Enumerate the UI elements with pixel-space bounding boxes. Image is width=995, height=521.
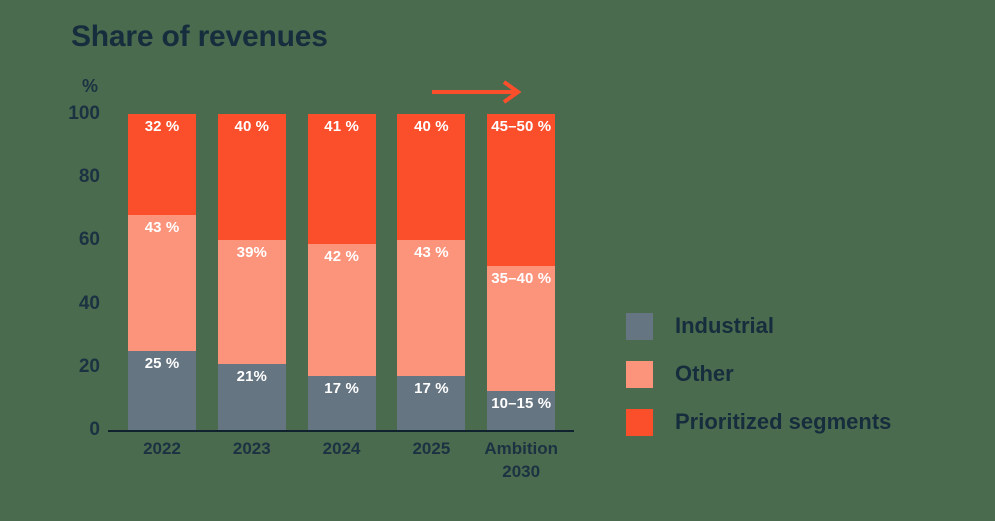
segment-value-label: 43 % [128,219,196,236]
bar-group[interactable]: 10–15 %35–40 %45–50 %Ambition 2030 [487,0,555,430]
segment-value-label: 21% [218,368,286,385]
bar-group[interactable]: 17 %43 %40 %2025 [397,0,465,430]
bar-segment-other[interactable]: 43 % [128,215,196,351]
bar-group[interactable]: 25 %43 %32 %2022 [128,0,196,430]
segment-value-label: 45–50 % [487,118,555,135]
bar-segment-industrial[interactable]: 10–15 % [487,391,555,431]
segment-value-label: 25 % [128,355,196,372]
segment-value-label: 39% [218,244,286,261]
x-axis-category-label: 2023 [204,438,300,461]
legend-color-swatch [626,313,653,340]
legend-item-prioritized[interactable]: Prioritized segments [626,398,956,446]
bar-segment-prioritized-segments[interactable]: 32 % [128,114,196,215]
x-axis-category-label: Ambition 2030 [473,438,569,484]
segment-value-label: 40 % [397,118,465,135]
segment-value-label: 40 % [218,118,286,135]
chart-root: Share of revenues % 100806040200 25 %43 … [0,0,995,521]
segment-value-label: 42 % [308,248,376,265]
bar-stack: 25 %43 %32 % [128,114,196,430]
segment-value-label: 32 % [128,118,196,135]
bar-segment-industrial[interactable]: 17 % [308,376,376,430]
bar-group[interactable]: 17 %42 %41 %2024 [308,0,376,430]
bar-group[interactable]: 21%39%40 %2023 [218,0,286,430]
x-axis-category-label: 2022 [114,438,210,461]
bar-segment-other[interactable]: 39% [218,240,286,363]
bar-series-container: 25 %43 %32 %202221%39%40 %202317 %42 %41… [0,0,600,521]
segment-value-label: 17 % [397,380,465,397]
segment-value-label: 41 % [308,118,376,135]
bar-stack: 21%39%40 % [218,114,286,430]
bar-stack: 10–15 %35–40 %45–50 % [487,114,555,430]
legend-item-industrial[interactable]: Industrial [626,302,956,350]
bar-stack: 17 %42 %41 % [308,114,376,430]
legend-item-label: Prioritized segments [675,409,891,435]
bar-segment-industrial[interactable]: 25 % [128,351,196,430]
bar-segment-industrial[interactable]: 17 % [397,376,465,430]
growth-arrow-icon [430,80,526,104]
legend-item-label: Other [675,361,734,387]
bar-segment-other[interactable]: 42 % [308,244,376,377]
bar-stack: 17 %43 %40 % [397,114,465,430]
bar-segment-industrial[interactable]: 21% [218,364,286,430]
bar-segment-other[interactable]: 35–40 % [487,266,555,391]
segment-value-label: 17 % [308,380,376,397]
bar-segment-prioritized-segments[interactable]: 41 % [308,114,376,244]
segment-value-label: 10–15 % [487,395,555,412]
bar-segment-other[interactable]: 43 % [397,240,465,376]
segment-value-label: 43 % [397,244,465,261]
plot-area: % 100806040200 25 %43 %32 %202221%39%40 … [0,0,600,521]
legend-color-swatch [626,361,653,388]
legend-item-label: Industrial [675,313,774,339]
legend-color-swatch [626,409,653,436]
bar-segment-prioritized-segments[interactable]: 40 % [397,114,465,240]
segment-value-label: 35–40 % [487,270,555,287]
bar-segment-prioritized-segments[interactable]: 40 % [218,114,286,240]
x-axis-category-label: 2024 [294,438,390,461]
legend: IndustrialOtherPrioritized segments [626,302,956,446]
legend-item-other[interactable]: Other [626,350,956,398]
x-axis-category-label: 2025 [383,438,479,461]
bar-segment-prioritized-segments[interactable]: 45–50 % [487,114,555,266]
